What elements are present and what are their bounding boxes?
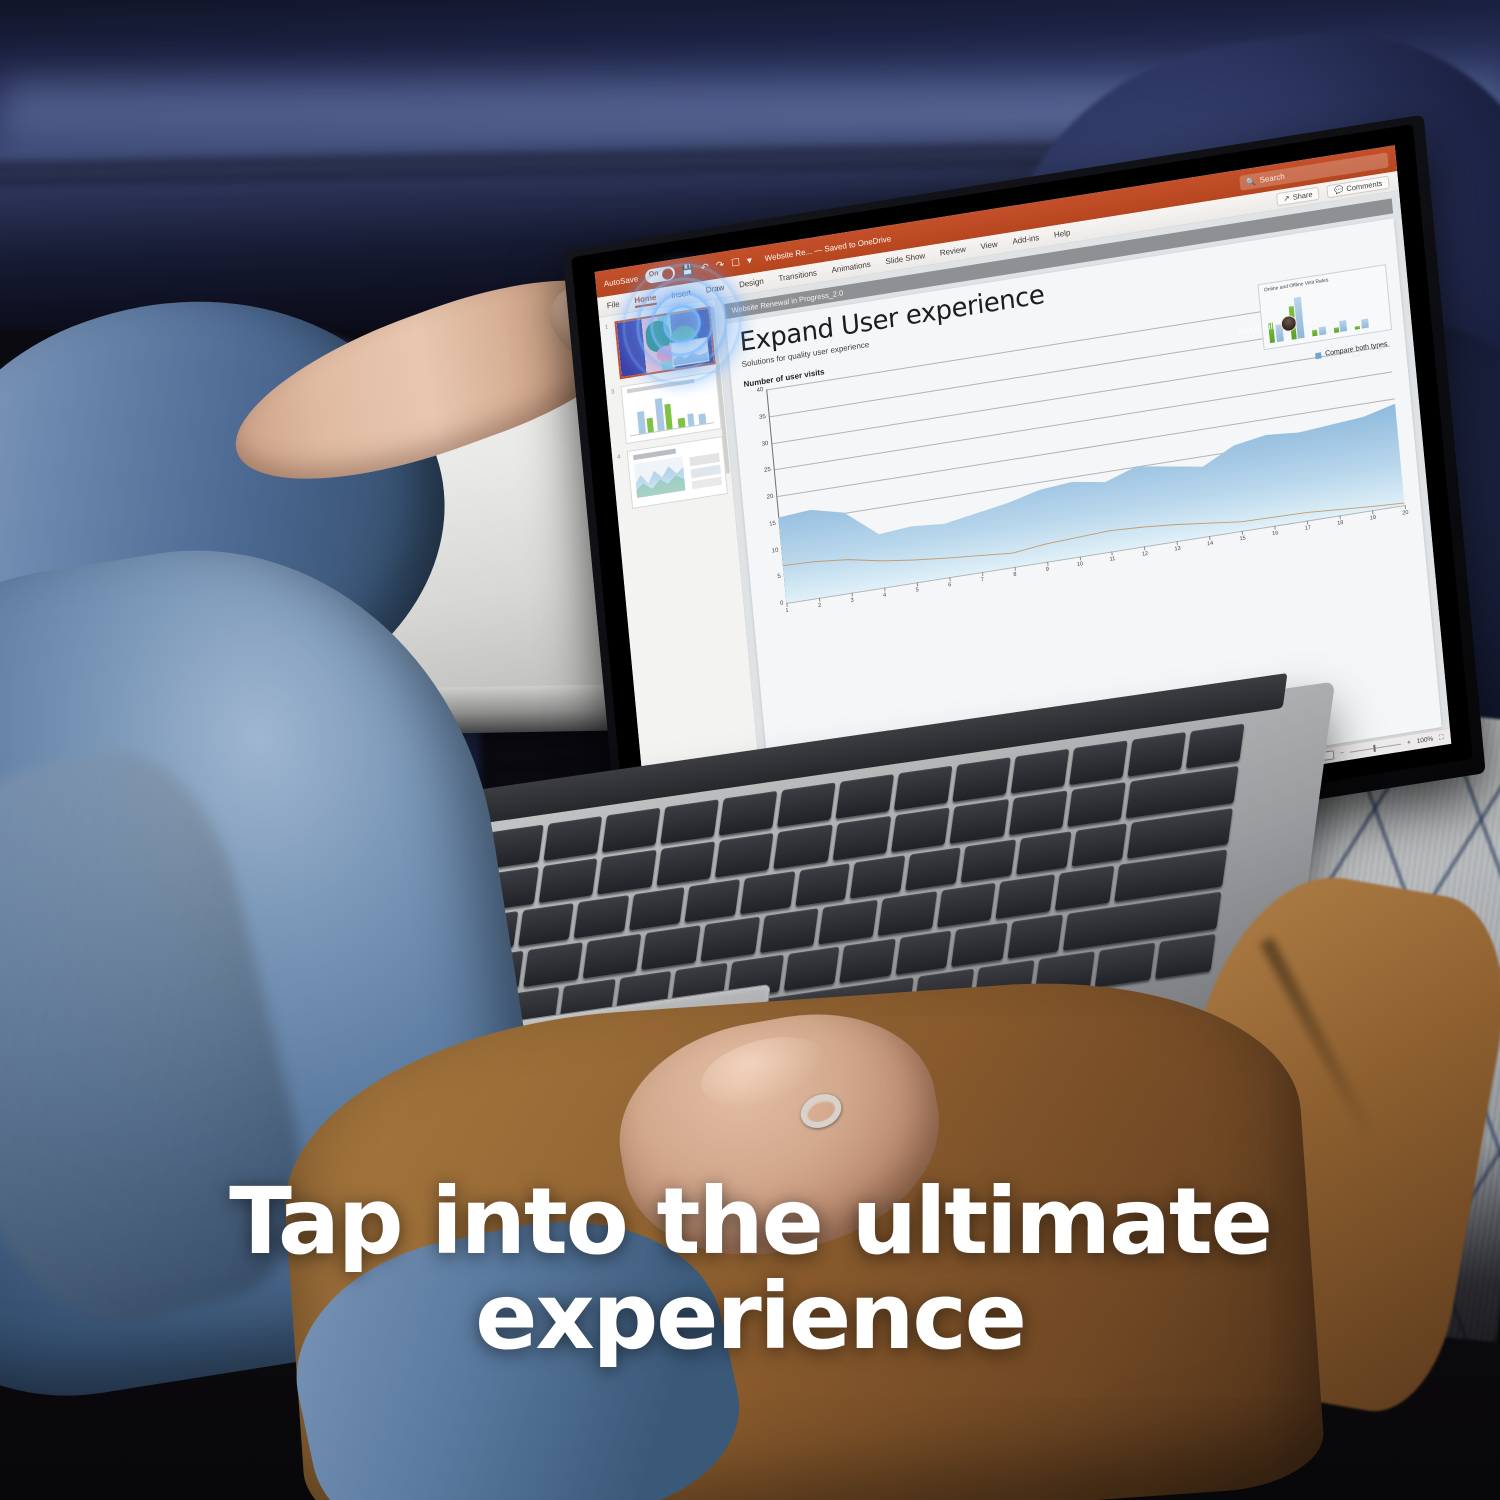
inset-bar-pair [1351, 285, 1368, 330]
title-slide-art [617, 309, 714, 377]
comments-label: Comments [1346, 179, 1383, 194]
tab-transitions[interactable]: Transitions [778, 268, 817, 283]
keyboard-key[interactable] [1067, 782, 1126, 827]
x-tick [1209, 536, 1210, 540]
tab-review[interactable]: Review [940, 245, 967, 258]
keyboard-key[interactable] [891, 807, 950, 852]
y-tick-20: 20 [766, 494, 773, 501]
x-tick-label: 19 [1370, 515, 1377, 522]
save-icon[interactable]: 💾 [681, 264, 694, 277]
keyboard-key[interactable] [783, 947, 839, 991]
thumbnail-preview [614, 306, 715, 379]
autosave-state: On [648, 270, 658, 279]
keyboard-key[interactable] [1186, 724, 1245, 769]
x-tick [851, 593, 852, 597]
x-tick-label: 6 [948, 582, 952, 588]
keyboard-key[interactable] [1007, 915, 1063, 959]
keyboard-key[interactable] [760, 909, 819, 954]
keyboard-key[interactable] [660, 799, 719, 844]
thumbnail-heading-bar [627, 379, 695, 394]
keyboard-key[interactable] [739, 871, 794, 915]
keyboard-key[interactable] [539, 858, 598, 903]
thumbnail-bar [687, 413, 695, 426]
thumbnail-bar [646, 417, 654, 433]
y-tick-30: 30 [761, 440, 768, 447]
search-placeholder: Search [1259, 171, 1285, 184]
thumbnail-number: 3 [611, 387, 619, 396]
x-tick [949, 577, 950, 581]
present-icon[interactable]: ☐ [731, 257, 741, 269]
thumbnail-inset-card [671, 337, 710, 367]
thumbnail-slide-4[interactable]: 4 [617, 436, 728, 511]
keyboard-key[interactable] [952, 757, 1011, 802]
close-button[interactable]: ✕ [1376, 344, 1385, 356]
thumbnail-number: 4 [617, 452, 625, 461]
keyboard-key[interactable] [598, 850, 657, 895]
x-tick-label: 8 [1013, 572, 1017, 578]
keyboard-key[interactable] [819, 900, 878, 945]
ribbon-display-icon[interactable]: ☷ [1302, 315, 1311, 327]
x-tick-label: 13 [1174, 546, 1181, 553]
x-tick [1307, 520, 1308, 524]
keyboard-key[interactable] [684, 879, 739, 923]
keyboard-key[interactable] [719, 791, 778, 836]
keyboard-key[interactable] [715, 833, 774, 878]
thumbnail-bar [678, 418, 685, 428]
y-tick-15: 15 [769, 520, 776, 527]
thumbnail-bar [655, 398, 665, 431]
keyboard-key[interactable] [894, 766, 953, 811]
tab-slide-show[interactable]: Slide Show [885, 251, 925, 266]
x-tick-label: 15 [1239, 535, 1246, 542]
thumbnail-text-block [692, 477, 723, 490]
autosave-label: AutoSave [603, 274, 638, 288]
thumbnail-bar [664, 403, 673, 430]
x-tick [1177, 541, 1178, 545]
keyboard-key[interactable] [836, 774, 895, 819]
thumbnail-preview [621, 371, 722, 444]
fit-to-window-icon[interactable]: ⛶ [1439, 733, 1444, 742]
x-tick-label: 20 [1402, 510, 1409, 517]
x-tick [1340, 515, 1341, 519]
keyboard-key[interactable] [937, 883, 996, 928]
zoom-in-button[interactable]: + [1407, 739, 1411, 747]
y-tick-35: 35 [759, 414, 766, 421]
x-tick-label: 1 [785, 608, 789, 614]
maximize-button[interactable]: ☐ [1351, 348, 1361, 360]
advertisement-image: AutoSave On 💾 ↶ ↷ ☐ ▾ Website Re... — Sa… [0, 0, 1500, 1500]
keyboard-key[interactable] [839, 939, 895, 983]
x-tick [1112, 551, 1113, 555]
x-tick-label: 7 [981, 577, 985, 583]
x-tick [1372, 510, 1373, 514]
x-tick-label: 2 [818, 603, 822, 609]
toggle-knob [662, 267, 674, 280]
tab-animations[interactable]: Animations [831, 260, 871, 275]
x-tick-label: 5 [915, 587, 919, 593]
comment-icon: 💬 [1334, 185, 1344, 195]
keyboard-key[interactable] [544, 816, 603, 861]
inset-bar-online [1333, 328, 1338, 333]
y-tick-5: 5 [777, 574, 781, 581]
thumbnail-slide-1[interactable]: 1 [605, 306, 716, 381]
x-tick [1047, 562, 1048, 566]
keyboard-key[interactable] [518, 903, 573, 947]
thumbnail-bar [698, 414, 706, 425]
user-name[interactable]: Joyce Hill [1236, 321, 1275, 337]
tab-file[interactable]: File [606, 299, 620, 310]
inset-bar-offline [1318, 327, 1326, 336]
x-tick-label: 12 [1142, 551, 1149, 558]
keyboard-key[interactable] [1069, 740, 1128, 785]
tab-insert[interactable]: Insert [671, 288, 692, 300]
x-tick-label: 16 [1272, 530, 1279, 537]
keyboard-key[interactable] [906, 847, 961, 891]
keyboard-key[interactable] [1128, 732, 1187, 777]
keyboard-key[interactable] [573, 895, 628, 939]
x-tick [819, 598, 820, 602]
x-tick-label: 17 [1304, 525, 1311, 532]
y-tick-40: 40 [756, 387, 763, 394]
inset-bar-online [1312, 329, 1318, 336]
x-tick-label: 11 [1109, 556, 1115, 563]
x-tick-label: 18 [1337, 520, 1344, 527]
keyboard-key[interactable] [951, 923, 1007, 967]
inset-bar-offline [1339, 320, 1347, 332]
zoom-slider[interactable] [1350, 744, 1401, 753]
x-tick-label: 14 [1207, 541, 1214, 548]
inset-bar-pair [1308, 291, 1325, 336]
tagline-line-2: experience [0, 1269, 1500, 1365]
keyboard-key[interactable] [795, 863, 850, 907]
inset-bar-offline [1361, 318, 1369, 328]
zoom-level: 100% [1416, 736, 1433, 746]
x-tick [917, 582, 918, 586]
thumbnail-preview [627, 436, 728, 509]
search-icon: 🔍 [1245, 176, 1256, 187]
share-label: Share [1292, 190, 1313, 202]
keyboard-key[interactable] [950, 799, 1009, 844]
tab-draw[interactable]: Draw [705, 283, 724, 295]
x-tick [1405, 505, 1406, 509]
user-avatar[interactable] [1280, 314, 1297, 332]
x-tick [982, 572, 983, 576]
marketing-tagline: Tap into the ultimate experience [0, 1174, 1500, 1365]
keyboard-key[interactable] [774, 824, 833, 869]
tagline-line-1: Tap into the ultimate [229, 1168, 1271, 1275]
keyboard-key[interactable] [996, 875, 1055, 920]
inset-bar-pair [1330, 288, 1347, 333]
keyboard-key[interactable] [700, 917, 759, 962]
keyboard-key[interactable] [1016, 831, 1071, 875]
autosave-toggle[interactable]: On [644, 265, 675, 284]
keyboard-key[interactable] [523, 943, 582, 988]
keyboard-key[interactable] [641, 926, 700, 971]
y-tick-0: 0 [780, 601, 784, 608]
x-tick-label: 10 [1077, 561, 1084, 568]
undo-icon[interactable]: ↶ [700, 262, 709, 274]
keyboard-key[interactable] [850, 855, 905, 899]
keyboard-key[interactable] [777, 782, 836, 827]
x-tick-label: 3 [850, 597, 854, 603]
keyboard-key[interactable] [629, 887, 684, 931]
x-tick [1014, 567, 1015, 571]
x-tick [884, 587, 885, 591]
x-tick-label: 4 [883, 592, 887, 598]
chevron-down-icon[interactable]: ▾ [746, 255, 752, 267]
area-series-path [777, 404, 1405, 603]
thumbnail-inset-wave [673, 349, 709, 366]
tab-design[interactable]: Design [739, 277, 764, 290]
zoom-slider-thumb[interactable] [1373, 745, 1376, 752]
share-icon: ↗ [1283, 193, 1290, 203]
keyboard-key[interactable] [832, 816, 891, 861]
tab-help[interactable]: Help [1054, 228, 1071, 240]
keyboard-key[interactable] [1011, 749, 1070, 794]
x-tick-label: 9 [1046, 567, 1050, 573]
thumbnail-text-block [689, 452, 720, 466]
legend-swatch [1315, 352, 1321, 359]
keyboard-key[interactable] [1055, 866, 1114, 911]
thumbnail-bar [637, 411, 646, 434]
keyboard-key[interactable] [1009, 790, 1068, 835]
x-tick [1242, 531, 1243, 535]
tab-view[interactable]: View [980, 240, 998, 252]
y-tick-10: 10 [771, 547, 778, 554]
x-tick [1144, 546, 1145, 550]
thumbnail-area-plot [634, 457, 686, 498]
x-tick [1079, 557, 1080, 561]
thumbnail-text-block [690, 465, 721, 479]
zoom-out-button[interactable]: − [1340, 750, 1344, 758]
x-tick [1275, 526, 1276, 530]
thumbnail-number: 1 [605, 322, 613, 331]
minimize-button[interactable]: – [1330, 351, 1337, 363]
keyboard-key[interactable] [656, 841, 715, 886]
keyboard-key[interactable] [878, 892, 937, 937]
keyboard-key[interactable] [602, 808, 661, 853]
inset-bar-online [1355, 326, 1360, 330]
redo-icon[interactable]: ↷ [715, 259, 724, 271]
thumbnail-slide-3[interactable]: 3 [611, 371, 722, 446]
y-tick-25: 25 [764, 467, 771, 474]
keyboard-key[interactable] [895, 931, 951, 975]
keyboard-key[interactable] [961, 839, 1016, 883]
tab-add-ins[interactable]: Add-ins [1012, 233, 1040, 246]
keyboard-key[interactable] [1072, 823, 1127, 867]
share-button[interactable]: ↗ Share [1276, 187, 1320, 207]
tab-home[interactable]: Home [634, 292, 657, 307]
keyboard-key[interactable] [582, 934, 641, 979]
x-tick [786, 603, 787, 607]
